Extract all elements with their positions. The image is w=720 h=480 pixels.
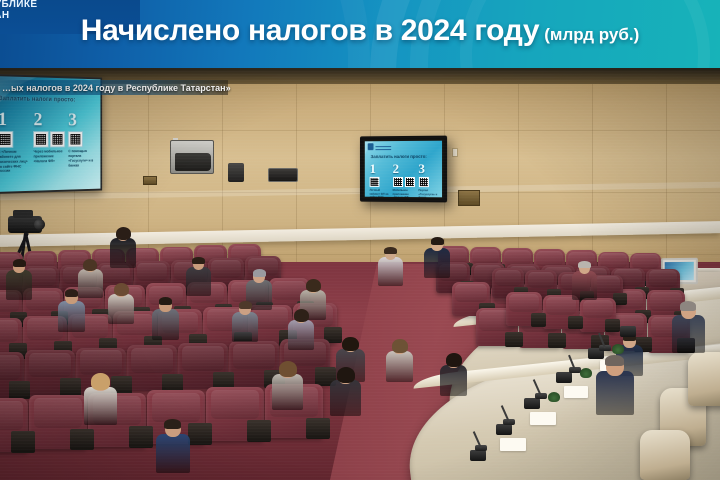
person-hair bbox=[91, 373, 110, 389]
seat-writing-flap bbox=[9, 381, 30, 399]
person-hair bbox=[306, 279, 321, 292]
person-hair bbox=[680, 301, 696, 310]
fns-logo-icon bbox=[368, 143, 391, 150]
slide-step-number: 2 bbox=[34, 111, 64, 130]
person-hair bbox=[65, 289, 79, 297]
slide-step-number: 3 bbox=[68, 111, 97, 129]
desk-console bbox=[470, 450, 486, 461]
slide-step-caption: С помощью портала «Госуслуги» и в банках bbox=[68, 149, 97, 168]
person-torso bbox=[232, 312, 258, 342]
banner-title-main: Начислено налогов в 2024 году bbox=[81, 14, 540, 47]
person-torso bbox=[110, 238, 136, 268]
audience-person bbox=[186, 256, 211, 296]
audience-person bbox=[330, 366, 361, 416]
qr-code-icon bbox=[418, 177, 428, 187]
person-torso bbox=[108, 294, 134, 324]
audience-person bbox=[58, 288, 85, 332]
conference-hall-photo: Заплатить налоги просто: 1 В «Личном каб… bbox=[0, 0, 720, 480]
slide-column: 2 Через мобильное приложение «Налоги ФЛ» bbox=[34, 111, 64, 174]
seat-writing-flap bbox=[505, 332, 523, 347]
person-hair bbox=[446, 353, 462, 367]
seat-writing-flap bbox=[247, 420, 271, 442]
person-torso bbox=[330, 380, 361, 416]
desk-plant bbox=[548, 392, 560, 402]
seat-writing-flap bbox=[11, 431, 35, 453]
person-torso bbox=[156, 434, 190, 473]
person-hair bbox=[605, 355, 624, 366]
banner-title-sub: (млрд руб.) bbox=[544, 25, 639, 44]
audience-person bbox=[232, 300, 258, 342]
camera-viewfinder bbox=[13, 210, 33, 218]
audience-person bbox=[6, 258, 32, 300]
audience-person bbox=[424, 236, 450, 278]
person-hair bbox=[192, 257, 204, 264]
person-hair bbox=[114, 283, 129, 296]
seat-writing-flap bbox=[129, 426, 153, 448]
banner-title: Начислено налогов в 2024 году(млрд руб.) bbox=[0, 14, 720, 48]
person-torso bbox=[186, 267, 211, 296]
slide-step-caption: В «Личном кабинете для физических лиц» н… bbox=[0, 150, 29, 174]
person-torso bbox=[152, 309, 179, 341]
audience-person bbox=[440, 352, 467, 396]
person-hair bbox=[159, 297, 173, 305]
audience-person bbox=[272, 360, 303, 410]
seat-writing-flap bbox=[568, 316, 583, 330]
wall-vent bbox=[458, 190, 480, 206]
audience-person bbox=[152, 296, 179, 340]
camera-lens-icon bbox=[34, 219, 45, 230]
lower-third-text: …ых налогов в 2024 году в Республике Тат… bbox=[2, 83, 231, 93]
person-torso bbox=[596, 371, 634, 415]
broadcast-lower-third: …ых налогов в 2024 году в Республике Тат… bbox=[0, 80, 228, 95]
person-hair bbox=[239, 301, 252, 309]
qr-code-icon bbox=[68, 132, 81, 146]
wall-switch bbox=[452, 148, 458, 157]
monitor-step-caption: Мобильное приложение «Налоги ФЛ» bbox=[393, 189, 415, 197]
qr-code-icon bbox=[393, 177, 403, 187]
person-hair bbox=[164, 419, 181, 429]
person-hair bbox=[116, 227, 131, 240]
person-torso bbox=[672, 315, 705, 353]
person-torso bbox=[424, 248, 450, 278]
desk-console bbox=[620, 326, 636, 337]
slide-columns: 1 В «Личном кабинете для физических лиц»… bbox=[0, 110, 97, 174]
presidium-person bbox=[672, 300, 705, 353]
audience-person bbox=[84, 372, 117, 425]
person-hair bbox=[279, 361, 297, 377]
desk-papers bbox=[500, 438, 526, 451]
person-hair bbox=[578, 261, 590, 268]
monitor-step-number: 1 bbox=[370, 162, 389, 175]
seat-writing-flap bbox=[306, 418, 330, 440]
qr-code-icon bbox=[50, 132, 64, 147]
ceiling-speaker bbox=[228, 163, 244, 182]
projector bbox=[170, 140, 214, 174]
person-torso bbox=[6, 270, 32, 300]
qr-row bbox=[418, 177, 438, 187]
person-hair bbox=[431, 237, 444, 245]
person-hair bbox=[83, 259, 97, 271]
audience-person bbox=[572, 260, 597, 300]
person-hair bbox=[384, 247, 396, 254]
audience-person bbox=[156, 418, 190, 473]
screenshot-root: Заплатить налоги просто: 1 В «Личном каб… bbox=[0, 0, 720, 480]
monitor-slide-column: 3 Портал «Госуслуги» и банки bbox=[418, 162, 438, 197]
person-torso bbox=[84, 387, 117, 425]
monitor-slide-heading: Заплатить налоги просто: bbox=[371, 154, 427, 159]
monitor-slide-column: 1 Личный кабинет ФЛ на сайте ФНС bbox=[370, 162, 389, 197]
person-hair bbox=[253, 269, 266, 277]
desk-plant bbox=[580, 368, 592, 378]
seat-writing-flap bbox=[605, 319, 620, 333]
wall-monitor-screen: Заплатить налоги просто: 1 Личный кабине… bbox=[365, 141, 442, 198]
desk-plant bbox=[612, 344, 624, 354]
audience-person bbox=[386, 338, 413, 382]
desk-console bbox=[496, 424, 512, 435]
qr-row bbox=[34, 132, 64, 147]
qr-row bbox=[0, 132, 29, 147]
desk-console bbox=[556, 372, 572, 383]
audience-person bbox=[378, 246, 403, 286]
person-torso bbox=[378, 257, 403, 286]
qr-code-icon bbox=[404, 177, 414, 187]
slide-step-number: 1 bbox=[0, 110, 29, 129]
qr-code-icon bbox=[370, 177, 380, 187]
qr-row bbox=[68, 132, 97, 146]
qr-code-icon bbox=[0, 132, 12, 147]
wall-outlet bbox=[143, 176, 157, 185]
monitor-step-number: 2 bbox=[393, 162, 415, 175]
person-torso bbox=[288, 320, 314, 350]
slide-column: 3 С помощью портала «Госуслуги» и в банк… bbox=[68, 111, 97, 173]
person-hair bbox=[294, 309, 309, 322]
presidium-person bbox=[596, 354, 634, 415]
executive-chair bbox=[640, 430, 690, 480]
monitor-slide-column: 2 Мобильное приложение «Налоги ФЛ» bbox=[393, 162, 415, 197]
desk-papers bbox=[530, 412, 556, 425]
person-torso bbox=[572, 271, 597, 300]
desk-papers bbox=[564, 386, 588, 398]
seat-writing-flap bbox=[60, 378, 81, 396]
executive-chair bbox=[688, 352, 720, 406]
person-torso bbox=[386, 351, 413, 383]
seat-writing-flap bbox=[70, 429, 94, 451]
monitor-step-number: 3 bbox=[418, 162, 438, 175]
person-hair bbox=[342, 337, 359, 351]
desk-console bbox=[524, 398, 540, 409]
seat-writing-flap bbox=[548, 333, 566, 348]
qr-code-icon bbox=[34, 132, 48, 147]
audience-person bbox=[108, 282, 134, 324]
person-hair bbox=[392, 339, 408, 353]
wall-display-panel bbox=[268, 168, 298, 182]
slide-step-caption: Через мобильное приложение «Налоги ФЛ» bbox=[34, 149, 64, 163]
wall-monitor: Заплатить налоги просто: 1 Личный кабине… bbox=[360, 136, 447, 203]
seat-writing-flap bbox=[531, 313, 546, 327]
person-torso bbox=[272, 374, 303, 410]
monitor-slide-columns: 1 Личный кабинет ФЛ на сайте ФНС 2 Мобил… bbox=[370, 162, 438, 197]
person-hair bbox=[13, 259, 26, 267]
audience-person bbox=[110, 226, 136, 268]
person-torso bbox=[58, 301, 85, 333]
monitor-step-caption: Портал «Госуслуги» и банки bbox=[418, 189, 438, 197]
monitor-step-caption: Личный кабинет ФЛ на сайте ФНС bbox=[370, 189, 389, 197]
qr-row bbox=[370, 177, 389, 187]
slide-column: 1 В «Личном кабинете для физических лиц»… bbox=[0, 110, 29, 174]
seat-writing-flap bbox=[188, 423, 212, 445]
audience-person bbox=[288, 308, 314, 350]
person-hair bbox=[337, 367, 355, 383]
person-torso bbox=[440, 365, 467, 397]
banner-corner-line1: …ТУБЛИКЕ bbox=[0, 0, 136, 11]
title-banner: …ТУБЛИКЕ …ТАН Начислено налогов в 2024 г… bbox=[0, 0, 720, 68]
qr-row bbox=[393, 177, 415, 187]
